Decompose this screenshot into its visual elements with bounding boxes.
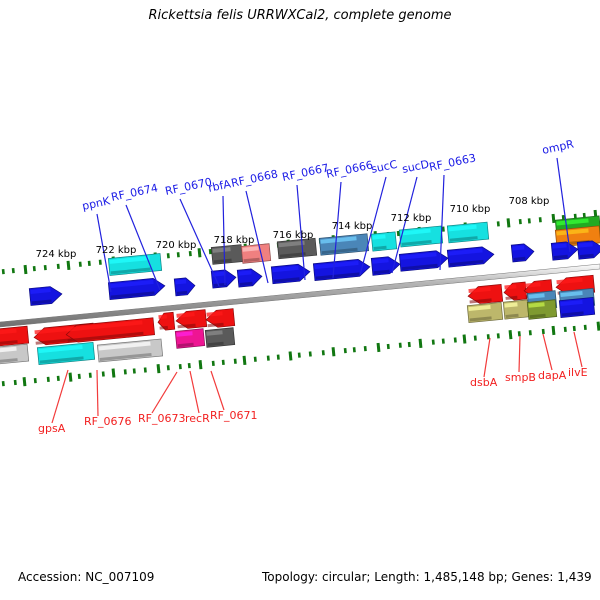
gene-feature[interactable]	[467, 284, 502, 304]
gene-label-leader	[190, 371, 199, 413]
ruler-position-label: 718 kbp	[214, 235, 255, 246]
ruler-tick-mark	[552, 326, 556, 335]
gene-feature[interactable]	[175, 329, 205, 349]
ruler-tick-mark	[67, 261, 71, 270]
ruler-tick-mark	[454, 337, 457, 342]
gene-label-leader	[519, 336, 520, 372]
ruler-tick-mark	[474, 335, 477, 340]
ruler-tick-mark	[188, 363, 191, 368]
gene-label[interactable]: dsbA	[470, 376, 498, 389]
gene-feature[interactable]	[313, 258, 370, 280]
gene-label[interactable]: sucC	[370, 158, 399, 176]
ruler-tick-mark	[408, 342, 411, 347]
gene-label[interactable]: sucD	[401, 158, 430, 176]
genome-map-viewport[interactable]: 724 kbp722 kbp720 kbp718 kbp716 kbp714 k…	[0, 40, 600, 550]
gene-feature[interactable]	[29, 285, 62, 305]
ruler-tick-mark	[497, 333, 500, 338]
gene-feature[interactable]	[237, 268, 263, 287]
ruler-tick-mark	[267, 355, 270, 360]
ruler-tick-mark	[12, 268, 15, 273]
gene-label[interactable]: RF_0673	[138, 412, 185, 425]
ruler-tick-mark	[419, 339, 423, 348]
ruler-tick-mark	[509, 330, 513, 339]
ruler-tick-mark	[44, 265, 47, 270]
ruler-tick-mark	[277, 354, 280, 359]
ruler-tick-mark	[47, 377, 50, 382]
gene-labels-reverse[interactable]: gpsARF_0676RF_0673recRRF_0671dsbAsmpBdap…	[38, 366, 588, 435]
ruler-tick-mark	[124, 369, 127, 374]
ruler-tick-mark	[364, 346, 367, 351]
ruler-tick-mark	[212, 361, 215, 366]
ruler-tick-mark	[102, 371, 105, 376]
ruler-tick-mark	[309, 351, 312, 356]
ruler-tick-mark	[179, 364, 182, 369]
gene-feature[interactable]	[205, 328, 235, 348]
gene-label[interactable]: RF_0668	[230, 167, 279, 190]
ruler-tick-mark	[222, 360, 225, 365]
ruler-tick-mark	[33, 266, 36, 271]
gene-feature[interactable]	[371, 232, 397, 251]
gene-feature[interactable]	[108, 277, 165, 299]
gene-label[interactable]: ompR	[541, 137, 575, 156]
gene-label-leader	[574, 332, 582, 367]
genome-stats-text: Topology: circular; Length: 1,485,148 bp…	[262, 570, 592, 584]
gene-feature[interactable]	[447, 246, 494, 267]
gene-feature[interactable]	[241, 244, 271, 264]
ruler-tick-mark	[57, 264, 60, 269]
ruler-tick-mark	[2, 381, 5, 386]
ruler-position-label: 712 kbp	[391, 213, 432, 224]
ruler-tick-mark	[112, 368, 116, 377]
ruler-tick-mark	[552, 214, 556, 223]
ruler-tick-mark	[88, 261, 91, 266]
gene-feature[interactable]	[97, 339, 162, 362]
ruler-tick-mark	[432, 339, 435, 344]
ruler-tick-mark	[167, 253, 170, 258]
gene-label[interactable]: RF_0671	[210, 409, 257, 422]
gene-feature[interactable]	[399, 226, 442, 247]
ruler-tick-mark	[353, 347, 356, 352]
ruler-tick-mark	[177, 252, 180, 257]
ruler-tick-mark	[529, 330, 532, 335]
ruler-tick-mark	[243, 356, 247, 365]
ruler-tick-mark	[332, 347, 336, 356]
ruler-tick-mark	[254, 357, 257, 362]
status-bar: Accession: NC_007109 Topology: circular;…	[0, 570, 600, 594]
ruler-tick-mark	[144, 367, 147, 372]
gene-label-leader	[152, 372, 177, 413]
gene-feature[interactable]	[467, 302, 502, 322]
ruler-tick-mark	[289, 351, 293, 360]
gene-label-leader	[211, 371, 224, 410]
ruler-tick-mark	[573, 326, 576, 331]
gene-label[interactable]: gpsA	[38, 422, 66, 435]
gene-label[interactable]: ilvE	[568, 366, 588, 379]
ruler-tick-mark	[23, 377, 27, 386]
gene-feature[interactable]	[0, 326, 29, 347]
ruler-tick-mark	[157, 364, 161, 373]
ruler-tick-mark	[387, 344, 390, 349]
gene-label[interactable]: RF_0663	[428, 151, 477, 174]
ruler-tick-mark	[99, 260, 102, 265]
gene-label[interactable]: smpB	[505, 371, 536, 384]
ruler-tick-mark	[528, 218, 531, 223]
gene-feature[interactable]	[211, 245, 242, 265]
ruler-position-label: 722 kbp	[96, 245, 137, 256]
genes-reverse-strand[interactable]	[0, 275, 595, 365]
ruler-tick-mark	[57, 376, 60, 381]
gene-label-leader	[97, 370, 98, 416]
ruler-position-label: 708 kbp	[509, 196, 550, 207]
ruler-tick-mark	[377, 343, 381, 352]
gene-label-leader	[52, 370, 68, 423]
gene-feature[interactable]	[157, 312, 175, 330]
gene-feature[interactable]	[108, 254, 161, 276]
ruler-tick-mark	[2, 269, 5, 274]
gene-label[interactable]: ppnK	[81, 194, 112, 213]
ruler-tick-mark	[234, 359, 237, 364]
ruler-tick-mark	[344, 348, 347, 353]
ruler-position-label: 716 kbp	[273, 230, 314, 241]
ruler-tick-mark	[399, 343, 402, 348]
gene-feature[interactable]	[559, 297, 594, 317]
ruler-tick-mark	[69, 373, 73, 382]
ruler-position-label: 710 kbp	[450, 204, 491, 215]
ruler-position-label: 720 kbp	[156, 240, 197, 251]
ruler-position-label: 714 kbp	[332, 221, 373, 232]
genome-map-svg[interactable]: 724 kbp722 kbp720 kbp718 kbp716 kbp714 k…	[0, 40, 600, 550]
ruler-tick-mark	[597, 322, 600, 331]
ruler-tick-mark	[14, 380, 17, 385]
ruler-tick-mark	[189, 251, 192, 256]
gene-feature[interactable]	[175, 310, 206, 330]
ruler-tick-mark	[298, 352, 301, 357]
ruler-tick-mark	[564, 327, 567, 332]
gene-feature[interactable]	[447, 222, 488, 243]
ruler-tick-mark	[463, 334, 467, 343]
gene-feature[interactable]	[277, 238, 316, 259]
gene-label[interactable]: RF_0670	[164, 175, 213, 198]
ruler-tick-mark	[507, 218, 511, 227]
ruler-tick-mark	[34, 378, 37, 383]
gene-label[interactable]: RF_0676	[84, 415, 131, 428]
ruler-tick-mark	[442, 339, 445, 344]
gene-feature[interactable]	[65, 318, 154, 343]
ruler-position-label: 724 kbp	[36, 249, 77, 260]
ruler-tick-mark	[584, 325, 587, 330]
gene-feature[interactable]	[319, 234, 368, 256]
ruler-tick-mark	[539, 217, 542, 222]
gene-feature[interactable]	[503, 282, 527, 301]
gene-highlight	[158, 314, 167, 319]
gene-label[interactable]: dapA	[538, 369, 567, 382]
page-title: Rickettsia felis URRWXCal2, complete gen…	[0, 8, 600, 23]
ruler-tick-mark	[198, 248, 202, 257]
ruler-tick-mark	[199, 360, 203, 369]
ruler-tick-mark	[133, 368, 136, 373]
gene-feature[interactable]	[0, 344, 29, 365]
ruler-tick-mark	[167, 365, 170, 370]
genome-viewer: Rickettsia felis URRWXCal2, complete gen…	[0, 0, 600, 600]
gene-label-leader	[484, 338, 490, 377]
ruler-tick-mark	[78, 374, 81, 379]
ruler-tick-mark	[89, 373, 92, 378]
ruler-tick-mark	[542, 329, 545, 334]
gene-feature[interactable]	[511, 243, 535, 262]
gene-label[interactable]: RF_0674	[110, 181, 159, 204]
gene-feature[interactable]	[174, 277, 196, 296]
ruler-tick-mark	[519, 219, 522, 224]
accession-text: Accession: NC_007109	[18, 570, 154, 584]
gene-feature[interactable]	[37, 342, 94, 364]
ruler-tick-mark	[24, 265, 28, 274]
ruler-tick-mark	[497, 221, 500, 226]
gene-label[interactable]: RF_0667	[281, 161, 330, 184]
gene-feature[interactable]	[527, 300, 557, 320]
gene-label-leader	[543, 334, 552, 370]
gene-feature[interactable]	[503, 300, 529, 319]
ruler-tick-mark	[518, 331, 521, 336]
ruler-tick-mark	[79, 262, 82, 267]
gene-label[interactable]: RF_0666	[325, 158, 374, 181]
ruler-tick-mark	[322, 350, 325, 355]
gene-feature[interactable]	[205, 309, 235, 329]
gene-label[interactable]: recR	[185, 412, 210, 425]
gene-labels-forward[interactable]: ppnKRF_0674RF_0670rbfARF_0668RF_0667RF_0…	[81, 137, 575, 212]
